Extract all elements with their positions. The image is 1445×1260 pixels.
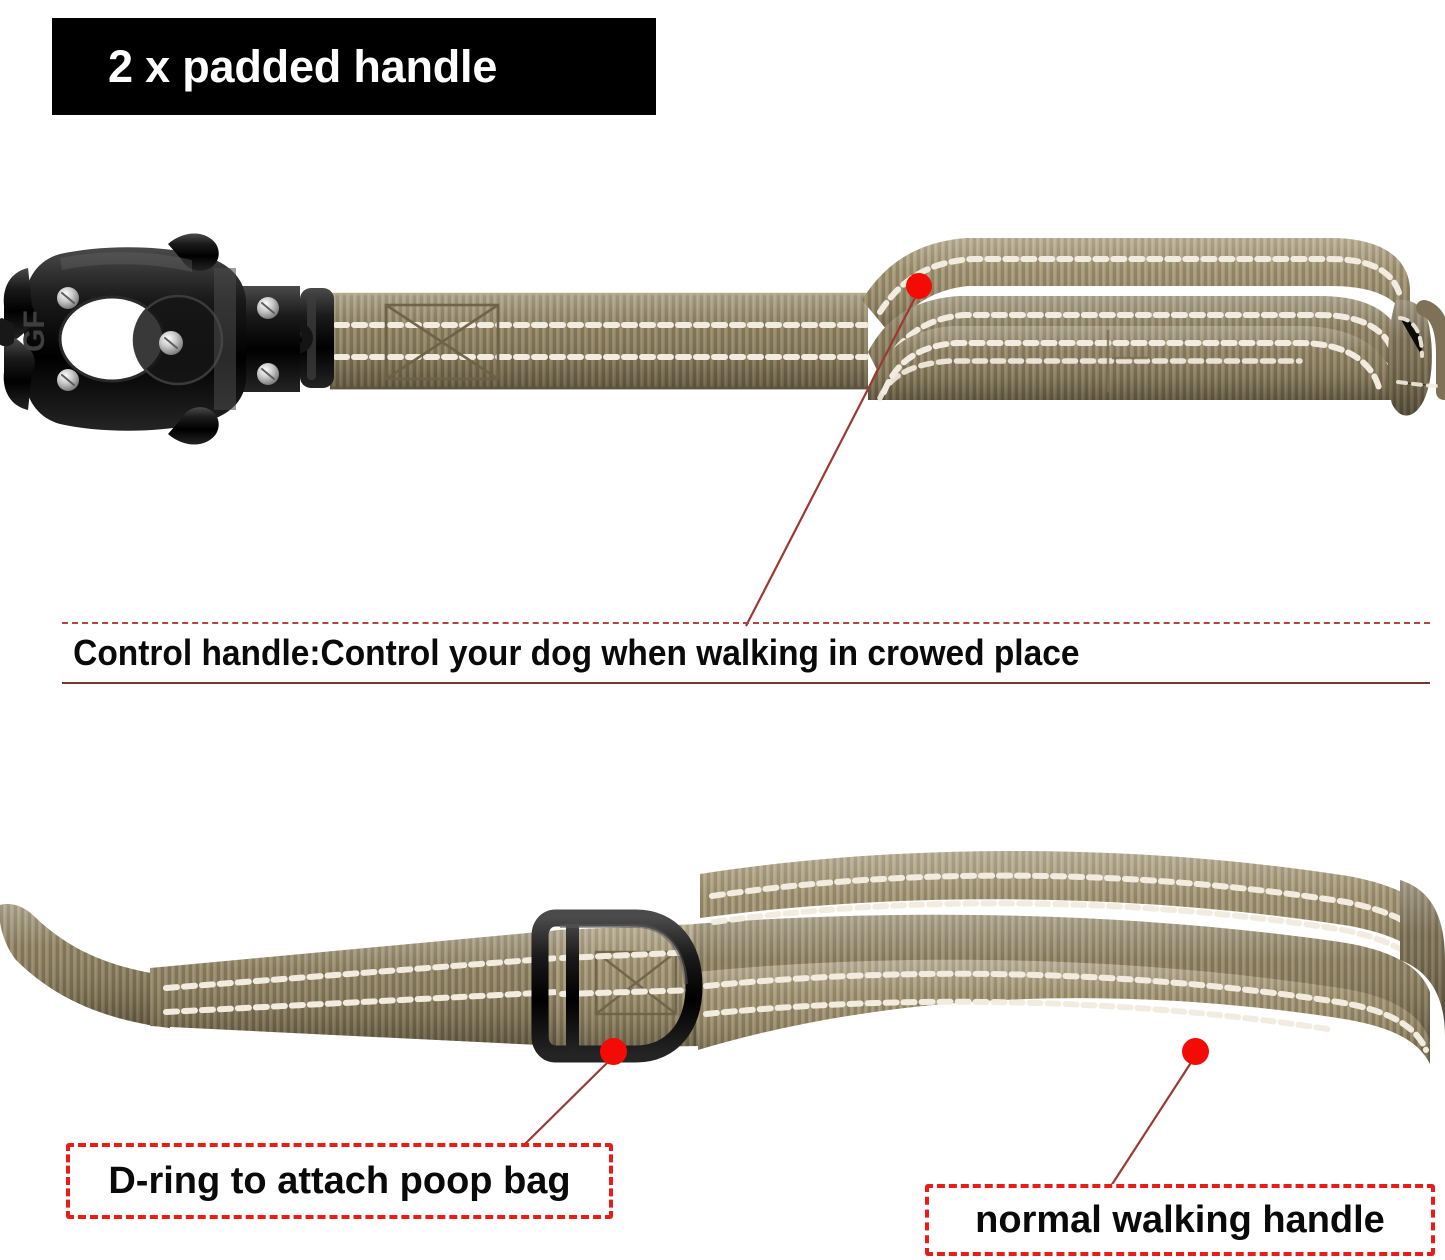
bartack-stitch xyxy=(386,305,498,379)
svg-text:GF: GF xyxy=(18,310,51,352)
callout-walking-handle-text: normal walking handle xyxy=(975,1199,1385,1242)
swivel-connector xyxy=(272,288,334,388)
rivet xyxy=(57,369,79,391)
callout-walking-handle: normal walking handle xyxy=(925,1184,1435,1256)
leader-control-handle xyxy=(746,292,918,626)
top-strap-main xyxy=(330,293,868,389)
walking-handle-front-band xyxy=(696,960,1430,1064)
control-handle-inner-band xyxy=(868,296,1404,392)
marker-dot-d-ring xyxy=(600,1038,627,1065)
marker-dot-control-handle xyxy=(906,273,932,299)
walking-handle-upper-band xyxy=(700,851,1442,986)
rivet xyxy=(159,331,183,355)
walking-handle-right-fold xyxy=(1400,880,1445,1036)
bottom-leash-assembly xyxy=(0,851,1445,1064)
top-leash-assembly: GF xyxy=(0,234,1444,445)
title-banner: 2 x padded handle xyxy=(52,18,656,115)
title-text: 2 x padded handle xyxy=(108,41,497,93)
walking-handle-stitching xyxy=(706,974,1426,1050)
walking-handle-lower-band xyxy=(694,915,1430,1046)
rivet xyxy=(57,287,79,309)
rivet xyxy=(257,363,279,385)
frog-clip: GF xyxy=(0,234,300,445)
bottom-strap-after-dring xyxy=(556,924,700,1048)
callout-control-handle-text: Control handle:Control your dog when wal… xyxy=(62,632,1079,674)
bartack-stitch xyxy=(596,952,676,1014)
callout-d-ring: D-ring to attach poop bag xyxy=(66,1143,613,1219)
rivet xyxy=(257,297,279,319)
leader-walking-handle xyxy=(1111,1058,1194,1186)
callout-d-ring-text: D-ring to attach poop bag xyxy=(108,1160,570,1203)
product-infographic: GF xyxy=(0,0,1445,1260)
bottom-strap-left-tail xyxy=(0,904,170,1028)
marker-dot-walking-handle xyxy=(1182,1038,1209,1065)
d-ring xyxy=(540,918,694,1054)
control-handle-outer-band xyxy=(862,238,1410,336)
control-handle-grip xyxy=(868,326,1396,400)
bottom-strap-to-dring xyxy=(150,930,560,1046)
bungee-section xyxy=(1388,300,1444,416)
leader-d-ring xyxy=(523,1058,612,1146)
callout-control-handle: Control handle:Control your dog when wal… xyxy=(62,622,1430,684)
